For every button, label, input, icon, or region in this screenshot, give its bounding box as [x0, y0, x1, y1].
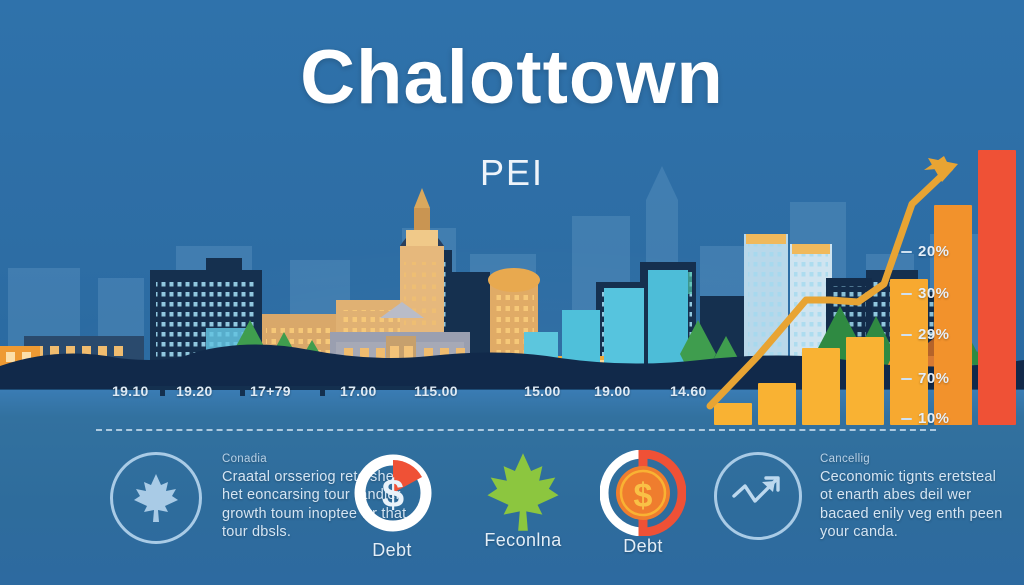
debt-coin-item[interactable]: $ — [600, 450, 686, 536]
economy-leaf-caption: Feconlna — [453, 530, 593, 551]
debt-dial-caption: Debt — [322, 540, 462, 561]
right-blurb-body: Ceconomic tignts eretsteal ot enarth abe… — [820, 468, 1005, 542]
svg-text:$: $ — [382, 472, 404, 516]
trend-up-circle-icon — [730, 474, 788, 518]
right-blurb-head: Cancellig — [820, 452, 1005, 467]
growth-bar-chart: 20% 30% 29% 70% 10% — [706, 150, 1024, 425]
page-title: Chalottown — [0, 40, 1024, 116]
svg-text:$: $ — [634, 477, 653, 515]
dollar-dial-icon: $ — [352, 452, 434, 534]
debt-coin-caption: Debt — [573, 536, 713, 557]
maple-leaf-green-icon — [482, 450, 564, 534]
dollar-coin-icon: $ — [600, 450, 686, 536]
infographic-canvas: Chalottown PEI 19.10 19.20 17+79 17.00 1… — [0, 0, 1024, 585]
maple-leaf-outline-item[interactable] — [110, 452, 202, 544]
growth-trend-item[interactable] — [714, 452, 802, 540]
right-blurb: Cancellig Ceconomic tignts eretsteal ot … — [820, 452, 1005, 542]
section-divider — [96, 429, 936, 431]
bridge-icon — [120, 382, 420, 396]
debt-dial-item[interactable]: $ — [352, 452, 434, 534]
maple-leaf-icon — [132, 472, 180, 524]
economy-leaf-item[interactable] — [482, 450, 564, 534]
trend-arrow-icon — [706, 150, 1024, 425]
